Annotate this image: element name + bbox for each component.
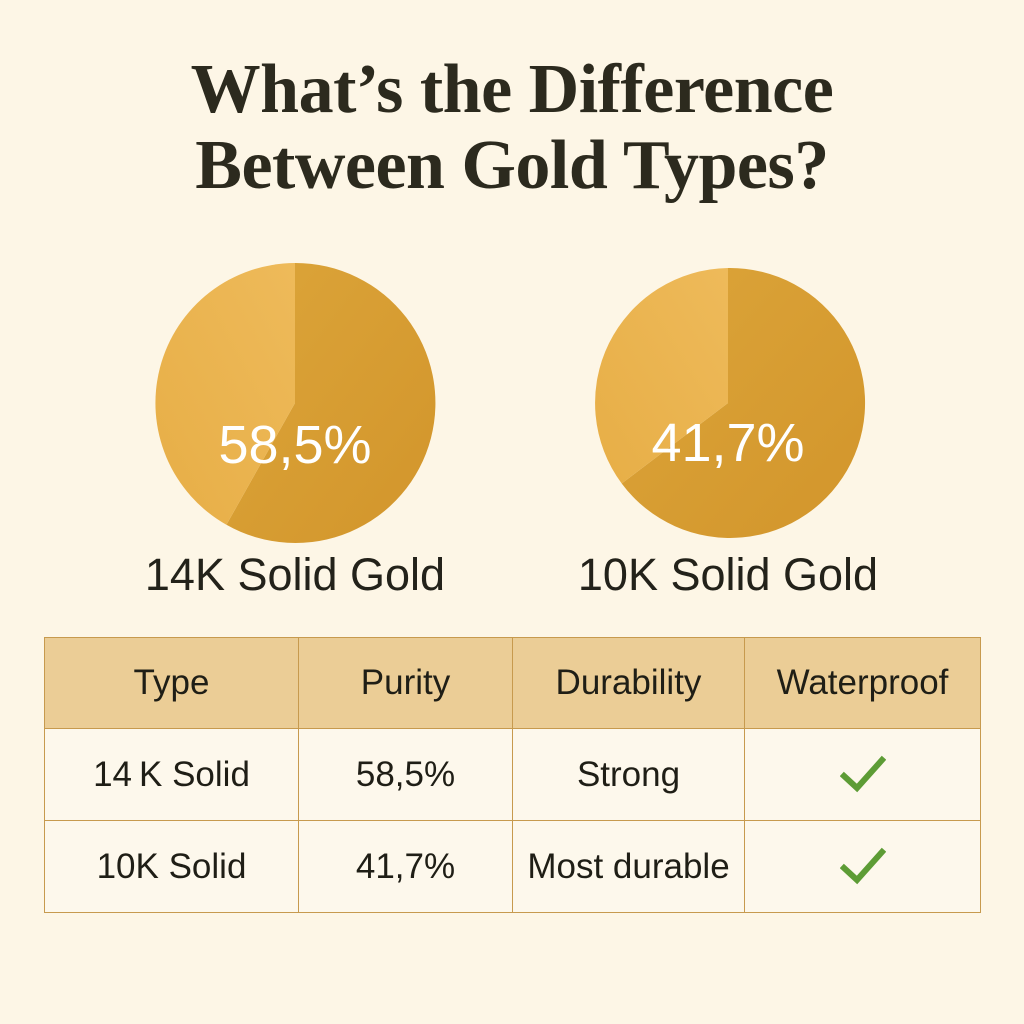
pie-chart-10k-svg: 41,7% (578, 253, 878, 553)
pie-value-label-10k: 41,7% (651, 413, 804, 473)
column-header-durability: Durability (513, 638, 745, 729)
cell-type: 10K Solid (45, 821, 299, 913)
cell-durability: Most durable (513, 821, 745, 913)
cell-type: 14 K Solid (45, 729, 299, 821)
table-header-row: Type Purity Durability Waterproof (45, 638, 981, 729)
cell-durability: Strong (513, 729, 745, 821)
pie-caption-10k: 10K Solid Gold (518, 546, 938, 604)
table-header: Type Purity Durability Waterproof (45, 638, 981, 729)
table-row: 10K Solid 41,7% Most durable (45, 821, 981, 913)
column-header-type: Type (45, 638, 299, 729)
comparison-table-wrapper: Type Purity Durability Waterproof 14 K S… (44, 637, 980, 909)
pie-value-label-14k: 58,5% (218, 415, 371, 475)
pie-captions: 14K Solid Gold 10K Solid Gold (0, 546, 1024, 606)
title-line-2: Between Gold Types? (0, 128, 1024, 204)
check-icon (840, 847, 886, 887)
check-icon (840, 755, 886, 795)
page-title: What’s the Difference Between Gold Types… (0, 52, 1024, 204)
pie-chart-14k: 58,5% (145, 253, 445, 553)
pie-chart-14k-svg: 58,5% (145, 253, 445, 553)
cell-waterproof (745, 821, 981, 913)
table-row: 14 K Solid 58,5% Strong (45, 729, 981, 821)
title-line-1: What’s the Difference (0, 52, 1024, 128)
column-header-purity: Purity (299, 638, 513, 729)
infographic-canvas: What’s the Difference Between Gold Types… (0, 0, 1024, 1024)
pie-caption-14k: 14K Solid Gold (85, 546, 505, 604)
comparison-table: Type Purity Durability Waterproof 14 K S… (44, 637, 981, 913)
column-header-waterproof: Waterproof (745, 638, 981, 729)
pie-chart-10k: 41,7% (578, 253, 878, 553)
cell-purity: 41,7% (299, 821, 513, 913)
cell-waterproof (745, 729, 981, 821)
table-body: 14 K Solid 58,5% Strong 10K Solid 41,7% (45, 729, 981, 913)
cell-purity: 58,5% (299, 729, 513, 821)
pie-charts-row: 58,5% 41,7% (0, 253, 1024, 553)
